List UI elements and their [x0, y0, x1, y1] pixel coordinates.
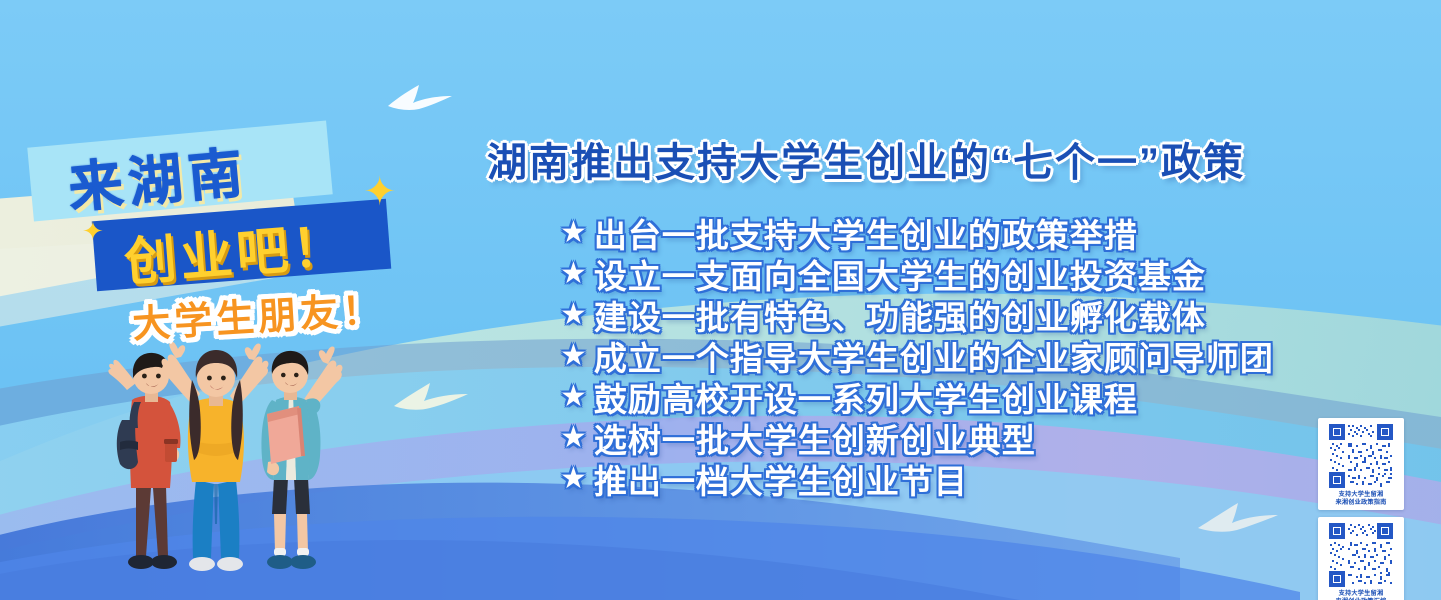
policy-list: ★ 出台一批支持大学生创业的政策举措 ★ 设立一支面向全国大学生的创业投资基金 … [560, 212, 1274, 499]
sparkle-icon: ✦ [363, 172, 397, 212]
promo-banner: 来湖南 创业吧！ 大学生朋友！ ✦ ✦ 湖南推出支持大学生创业的“七个一”政策 … [0, 0, 1441, 600]
student-left-male [108, 353, 180, 569]
list-item: ★ 建设一批有特色、功能强的创业孵化载体 [560, 294, 1274, 335]
list-item: ★ 鼓励高校开设一系列大学生创业课程 [560, 376, 1274, 417]
list-item: ★ 出台一批支持大学生创业的政策举措 [560, 212, 1274, 253]
star-icon: ★ [560, 341, 588, 371]
sparkle-icon: ✦ [82, 218, 104, 244]
qr-caption-line-1: 支持大学生留湘 [1335, 491, 1386, 499]
seagull-icon [386, 82, 462, 114]
seagull-icon [392, 380, 478, 414]
list-item: ★ 推出一档大学生创业节目 [560, 458, 1274, 499]
qr-code-icon[interactable] [1328, 423, 1394, 489]
student-right-male [261, 346, 342, 569]
star-icon: ★ [560, 464, 588, 494]
page-title: 湖南推出支持大学生创业的“七个一”政策 [487, 130, 1245, 188]
qr-caption-line-1: 支持大学生留湘 [1335, 590, 1386, 598]
star-icon: ★ [560, 259, 588, 289]
seagull-icon [1196, 500, 1286, 536]
list-item-label: 推出一档大学生创业节目 [594, 455, 968, 503]
star-icon: ★ [560, 218, 588, 248]
campaign-logo: 来湖南 创业吧！ 大学生朋友！ ✦ ✦ [28, 128, 428, 338]
list-item: ★ 选树一批大学生创新创业典型 [560, 417, 1274, 458]
qr-caption: 支持大学生留湘 来湘创业政策指南 [1335, 491, 1386, 507]
qr-card-policy-guide[interactable]: 支持大学生留湘 来湘创业政策指南 [1318, 418, 1404, 510]
star-icon: ★ [560, 382, 588, 412]
star-icon: ★ [560, 423, 588, 453]
students-illustration [96, 338, 358, 600]
qr-caption-line-2: 来湘创业政策指南 [1335, 499, 1386, 507]
list-item: ★ 成立一个指导大学生创业的企业家顾问导师团 [560, 335, 1274, 376]
list-item: ★ 设立一支面向全国大学生的创业投资基金 [560, 253, 1274, 294]
qr-code-icon[interactable] [1328, 522, 1394, 588]
logo-line-1: 来湖南 [65, 128, 251, 223]
qr-caption: 支持大学生留湘 来湘创业政策汇编 [1335, 590, 1386, 600]
qr-code-stack: 支持大学生留湘 来湘创业政策指南 [1318, 418, 1404, 600]
star-icon: ★ [560, 300, 588, 330]
qr-card-policy-compilation[interactable]: 支持大学生留湘 来湘创业政策汇编 [1318, 517, 1404, 600]
